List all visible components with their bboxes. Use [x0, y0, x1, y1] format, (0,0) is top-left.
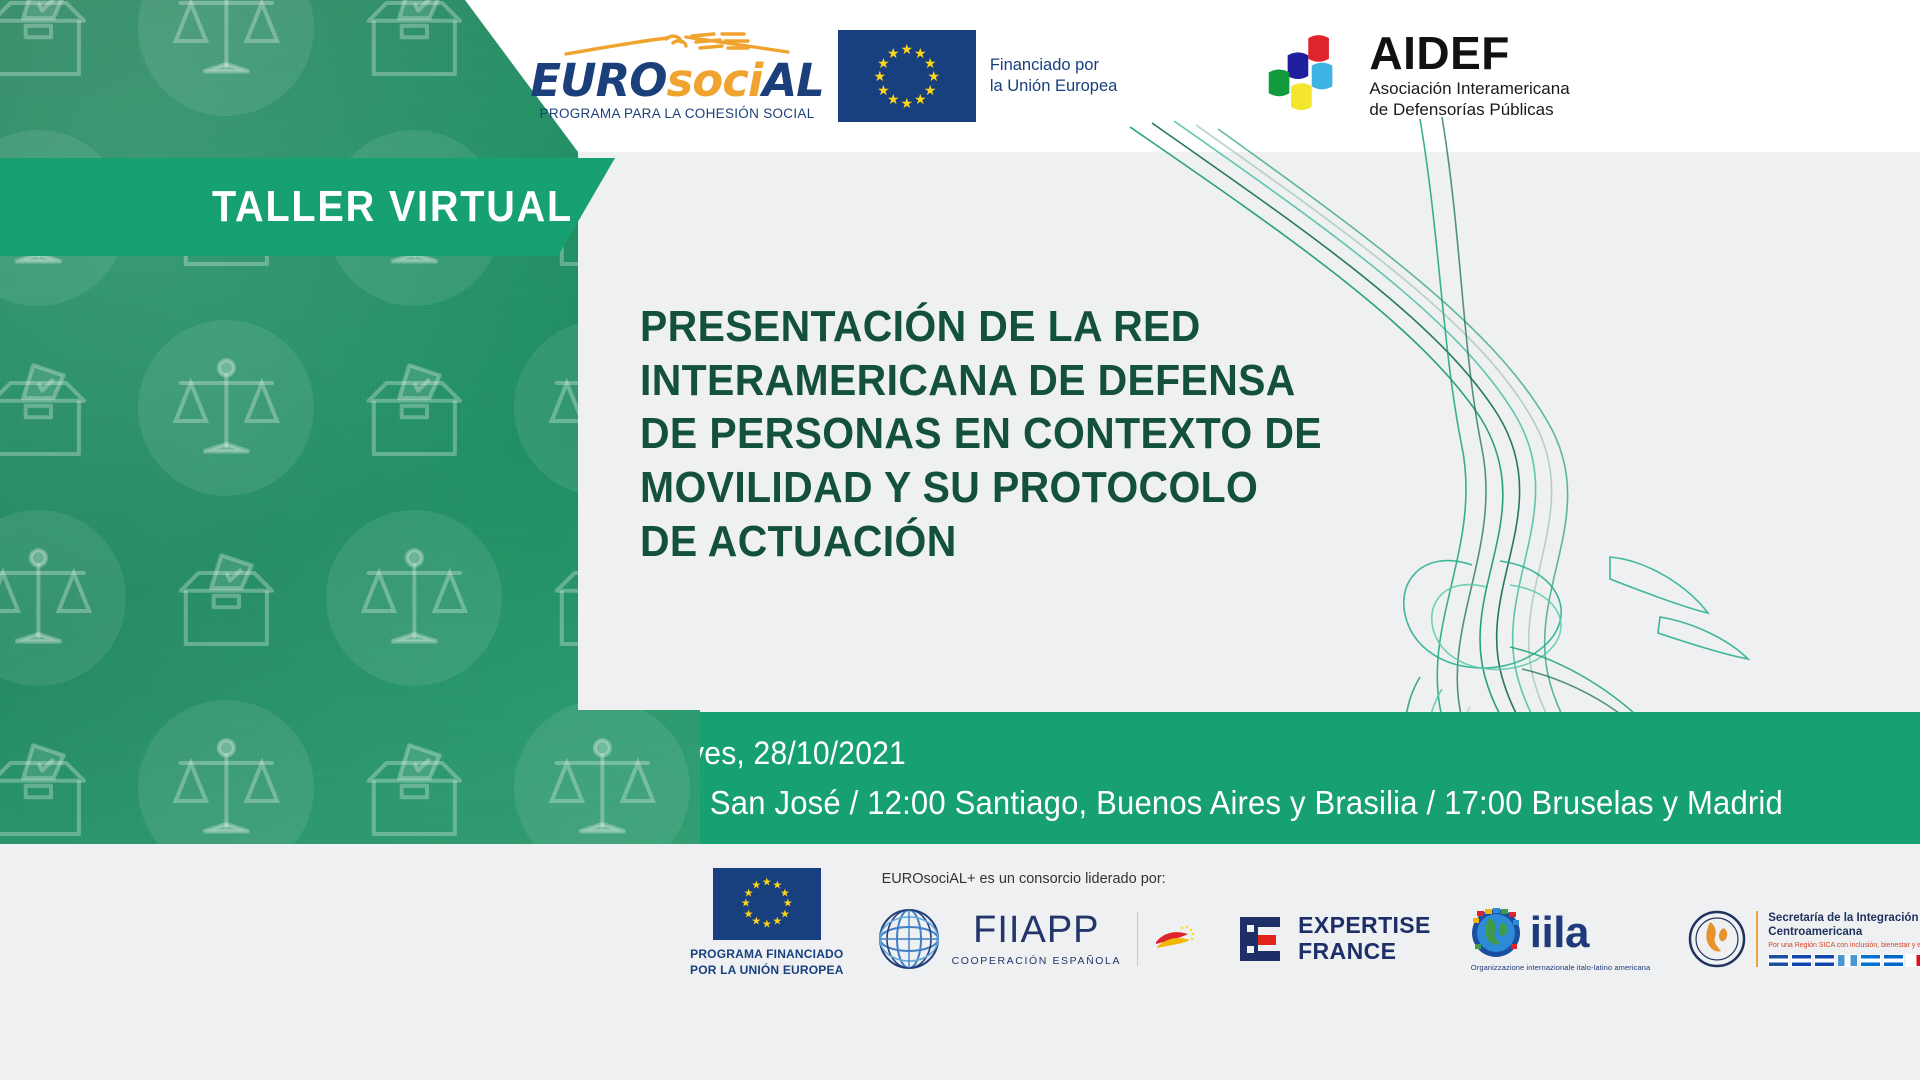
footer: ★★★★★★★★★★★★ PROGRAMA FINANCIADO POR LA …: [0, 844, 1920, 1080]
eurosocial-tagline: PROGRAMA PARA LA COHESIÓN SOCIAL: [540, 106, 815, 121]
eu-funding-credit: Financiado por la Unión Europea: [990, 55, 1118, 96]
scales-of-justice-icon: [326, 510, 502, 686]
spain-cooperation-icon: [1154, 922, 1196, 956]
sisca-line-1: Secretaría de la Integración Social: [1768, 911, 1920, 925]
eurosocial-euro: EURO: [530, 54, 666, 107]
expertise-france-text: EXPERTISE FRANCE: [1298, 913, 1431, 965]
consortium-logos: FIIAPP COOPERACIÓN ESPAÑOLA: [878, 903, 1920, 975]
european-union-flag-footer: ★★★★★★★★★★★★: [713, 868, 821, 940]
aidef-name: AIDEF: [1369, 32, 1569, 76]
event-title-line-3: DE PERSONAS EN CONTEXTO DE: [640, 407, 1310, 461]
eu-star-12: ★: [887, 46, 900, 60]
event-title-line-2: INTERAMERICANA DE DEFENSA: [640, 354, 1310, 408]
european-union-flag: ★★★★★★★★★★★★: [838, 30, 976, 122]
eu-star-6: ★: [772, 917, 782, 928]
fiiapp-text: FIIAPP COOPERACIÓN ESPAÑOLA: [952, 911, 1122, 967]
expertise-france-line-1: EXPERTISE: [1298, 913, 1431, 939]
iila-subtitle: Organizzazione internazionale italo-lati…: [1471, 963, 1650, 972]
flag-panama: [1906, 954, 1920, 967]
sisca-text: Secretaría de la Integración Social Cent…: [1756, 911, 1920, 968]
event-title-line-5: DE ACTUACIÓN: [640, 515, 1310, 569]
flag-guatemala: [1837, 954, 1858, 967]
globe-flags-icon: [1469, 906, 1523, 960]
eu-star-12: ★: [751, 880, 761, 891]
partner-logo-iila: iila Organizzazione internazionale italo…: [1469, 906, 1650, 972]
schedule-bar: Jueves, 28/10/2021 9:00 San José / 12:00…: [0, 712, 1920, 844]
eu-funding-logo: ★★★★★★★★★★★★ PROGRAMA FINANCIADO POR LA …: [690, 868, 844, 978]
expertise-france-line-2: FRANCE: [1298, 939, 1431, 965]
eurosocial-wordmark: EUROsociAL PROGRAMA PARA LA COHESIÓN SOC…: [530, 32, 824, 121]
banner-label: TALLER VIRTUAL: [212, 182, 573, 232]
schedule-times: 9:00 San José / 12:00 Santiago, Buenos A…: [640, 784, 1843, 822]
globe-mesh-icon: [878, 908, 940, 970]
consortium-block: EUROsociAL+ es un consorcio liderado por…: [878, 871, 1920, 975]
flag-costa-rica: [1791, 954, 1812, 967]
flag-el-salvador: [1814, 954, 1835, 967]
aidef-subtitle: Asociación Interamericana de Defensorías…: [1369, 79, 1569, 120]
divider: [1137, 912, 1138, 966]
footer-logo-row: ★★★★★★★★★★★★ PROGRAMA FINANCIADO POR LA …: [690, 868, 1880, 978]
eu-star-1: ★: [762, 878, 772, 889]
aidef-subtitle-line-1: Asociación Interamericana: [1369, 79, 1569, 99]
flag-honduras: [1860, 954, 1881, 967]
aidef-flag-icon: [1267, 33, 1353, 119]
ballot-box-icon: [138, 510, 314, 686]
eu-star-7: ★: [901, 96, 914, 110]
header-logo-row: EUROsociAL PROGRAMA PARA LA COHESIÓN SOC…: [0, 0, 1920, 152]
eu-star-10: ★: [874, 69, 887, 83]
sisca-member-flags: [1768, 954, 1920, 967]
consortium-label: EUROsociAL+ es un consorcio liderado por…: [882, 871, 1920, 887]
event-title: PRESENTACIÓN DE LA REDINTERAMERICANA DE …: [640, 300, 1360, 568]
iila-row: iila: [1469, 906, 1650, 960]
workshop-type-banner: TALLER VIRTUAL: [0, 158, 615, 256]
expertise-france-mark-icon: [1234, 913, 1286, 965]
event-title-line-4: MOVILIDAD Y SU PROTOCOLO: [640, 461, 1310, 515]
partner-logo-sisca: Secretaría de la Integración Social Cent…: [1688, 910, 1920, 968]
eu-star-10: ★: [741, 899, 751, 910]
ballot-box-icon: [326, 320, 502, 496]
eu-funding-text: PROGRAMA FINANCIADO POR LA UNIÓN EUROPEA: [690, 947, 844, 978]
eu-star-1: ★: [901, 42, 914, 56]
eu-star-9: ★: [877, 83, 890, 97]
eu-star-6: ★: [914, 92, 927, 106]
aidef-logo: AIDEF Asociación Interamericana de Defen…: [1267, 32, 1569, 120]
event-title-line-1: PRESENTACIÓN DE LA RED: [640, 300, 1310, 354]
scales-of-justice-icon: [0, 510, 126, 686]
iila-word: iila: [1530, 914, 1589, 951]
partner-logo-expertise-france: EXPERTISE FRANCE: [1234, 913, 1431, 965]
eu-funding-line-1: PROGRAMA FINANCIADO: [690, 947, 844, 963]
aidef-text-block: AIDEF Asociación Interamericana de Defen…: [1369, 32, 1569, 120]
eurosocial-logo: EUROsociAL PROGRAMA PARA LA COHESIÓN SOC…: [530, 30, 1117, 122]
eu-star-7: ★: [762, 920, 772, 931]
eu-credit-line-1: Financiado por: [990, 55, 1118, 76]
eu-star-9: ★: [744, 909, 754, 920]
fiiapp-name: FIIAPP: [973, 911, 1099, 949]
partner-logo-fiiapp: FIIAPP COOPERACIÓN ESPAÑOLA: [878, 908, 1197, 970]
eurosocial-soci: soci: [667, 54, 763, 107]
flag-nicaragua: [1883, 954, 1904, 967]
sisca-seal-icon: [1688, 910, 1746, 968]
eurosocial-al: AL: [762, 54, 824, 107]
ballot-box-icon: [0, 320, 126, 496]
eu-funding-line-2: POR LA UNIÓN EUROPEA: [690, 963, 844, 979]
aidef-subtitle-line-2: de Defensorías Públicas: [1369, 100, 1569, 120]
eurosocial-text: EUROsociAL: [530, 58, 824, 103]
sisca-line-2: Centroamericana: [1768, 925, 1920, 939]
schedule-date: Jueves, 28/10/2021: [640, 735, 1843, 772]
flag-belize: [1768, 954, 1789, 967]
scales-of-justice-icon: [138, 320, 314, 496]
eu-credit-line-2: la Unión Europea: [990, 76, 1118, 97]
sisca-tagline: Por una Región SICA con inclusión, biene…: [1768, 942, 1920, 949]
event-poster: EUROsociAL PROGRAMA PARA LA COHESIÓN SOC…: [0, 0, 1920, 1080]
fiiapp-subtitle: COOPERACIÓN ESPAÑOLA: [952, 955, 1122, 967]
